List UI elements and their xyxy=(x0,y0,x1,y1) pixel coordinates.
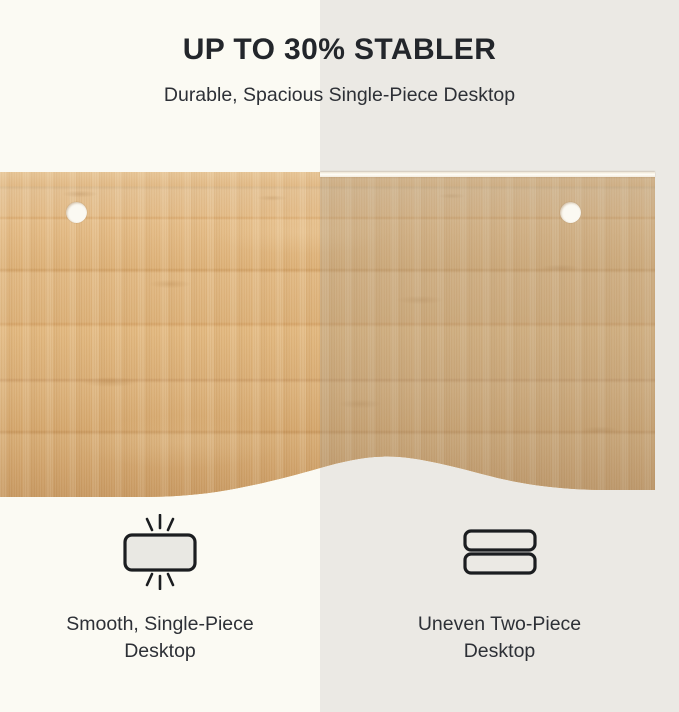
right-icon-cell xyxy=(320,512,679,592)
left-icon-cell xyxy=(0,512,320,592)
right-caption-line-2: Desktop xyxy=(320,638,679,665)
right-caption: Uneven Two-Piece Desktop xyxy=(320,611,679,665)
single-piece-desktop-shine-icon xyxy=(112,514,208,590)
right-half-comparison-scrim xyxy=(320,172,679,498)
left-caption: Smooth, Single-Piece Desktop xyxy=(0,611,320,665)
subheadline: Durable, Spacious Single-Piece Desktop xyxy=(0,84,679,107)
desktop-product-photo xyxy=(0,172,679,498)
two-piece-desktop-split-icon xyxy=(452,521,548,583)
cable-grommet-hole-right xyxy=(560,202,581,223)
headline: UP TO 30% STABLER xyxy=(0,33,679,67)
right-caption-line-1: Uneven Two-Piece xyxy=(320,611,679,638)
left-caption-line-1: Smooth, Single-Piece xyxy=(0,611,320,638)
product-comparison-infographic: UP TO 30% STABLER Durable, Spacious Sing… xyxy=(0,0,679,712)
cable-grommet-hole-left xyxy=(66,202,87,223)
two-piece-seam-line xyxy=(320,172,655,177)
left-caption-line-2: Desktop xyxy=(0,638,320,665)
desktop-surface-shape xyxy=(0,172,679,498)
